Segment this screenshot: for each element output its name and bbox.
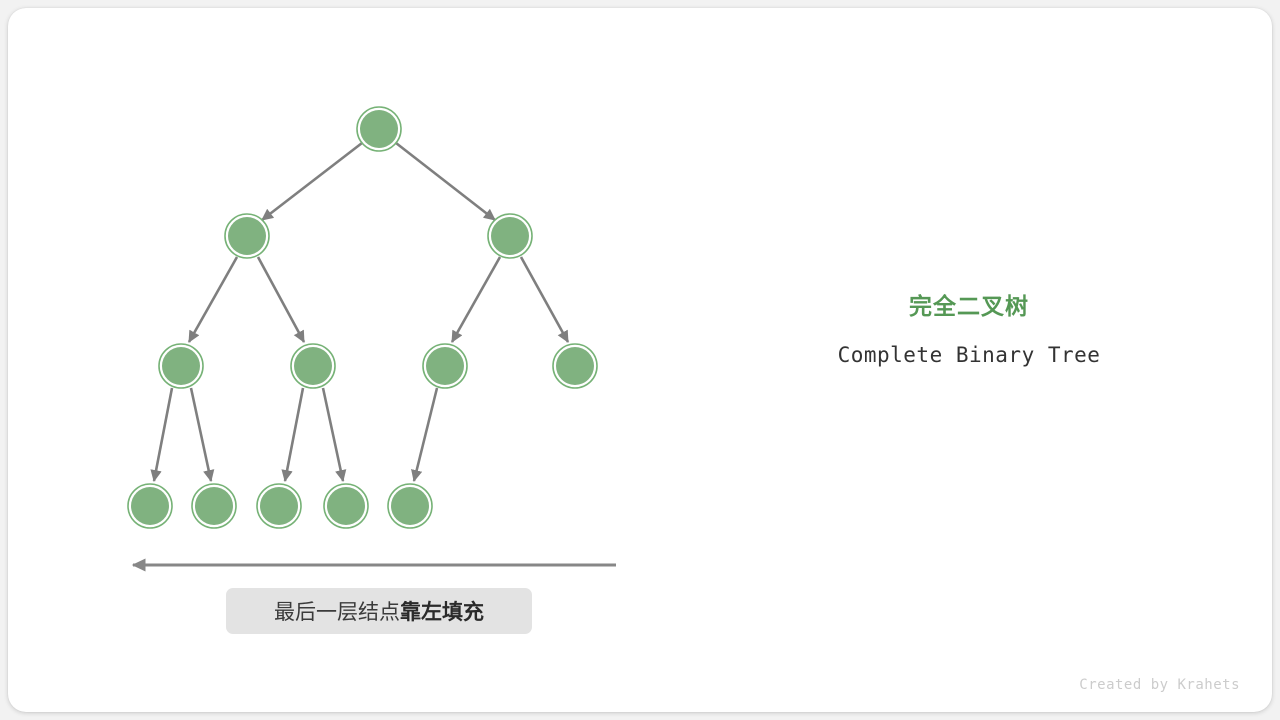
- edge-n1-n2: [262, 143, 362, 220]
- edge-n2-n5: [258, 257, 304, 342]
- tree-node-n8[interactable]: [128, 484, 172, 528]
- fill-direction-note: 最后一层结点靠左填充: [226, 588, 532, 634]
- figure-caption: 完全二叉树 Complete Binary Tree: [700, 292, 1238, 369]
- tree-nodes: [128, 107, 597, 528]
- edge-n4-n8: [154, 388, 172, 481]
- note-prefix: 最后一层结点: [274, 601, 400, 624]
- tree-node-n12[interactable]: [388, 484, 432, 528]
- edge-n5-n10: [285, 388, 303, 481]
- tree-node-n10[interactable]: [257, 484, 301, 528]
- edge-n6-n12: [414, 388, 437, 481]
- tree-node-n3[interactable]: [488, 214, 532, 258]
- edge-n2-n4: [189, 257, 237, 342]
- edge-n3-n7: [521, 257, 568, 342]
- tree-node-n5[interactable]: [291, 344, 335, 388]
- edge-n4-n9: [191, 388, 211, 481]
- tree-node-n2[interactable]: [225, 214, 269, 258]
- caption-title-cn: 完全二叉树: [700, 292, 1238, 322]
- tree-node-n11[interactable]: [324, 484, 368, 528]
- caption-title-en: Complete Binary Tree: [700, 342, 1238, 369]
- tree-node-n6[interactable]: [423, 344, 467, 388]
- tree-node-n7[interactable]: [553, 344, 597, 388]
- edge-n1-n3: [396, 143, 495, 220]
- tree-node-n9[interactable]: [192, 484, 236, 528]
- tree-node-n1[interactable]: [357, 107, 401, 151]
- fill-direction-note-text: 最后一层结点靠左填充: [274, 596, 484, 626]
- credit-text: Created by Krahets: [1079, 677, 1240, 693]
- edge-n3-n6: [452, 257, 500, 342]
- figure-canvas: 最后一层结点靠左填充 完全二叉树 Complete Binary Tree Cr…: [0, 0, 1280, 720]
- tree-node-n4[interactable]: [159, 344, 203, 388]
- note-emphasis: 靠左填充: [400, 601, 484, 624]
- edge-n5-n11: [323, 388, 343, 481]
- tree-edges: [154, 143, 568, 481]
